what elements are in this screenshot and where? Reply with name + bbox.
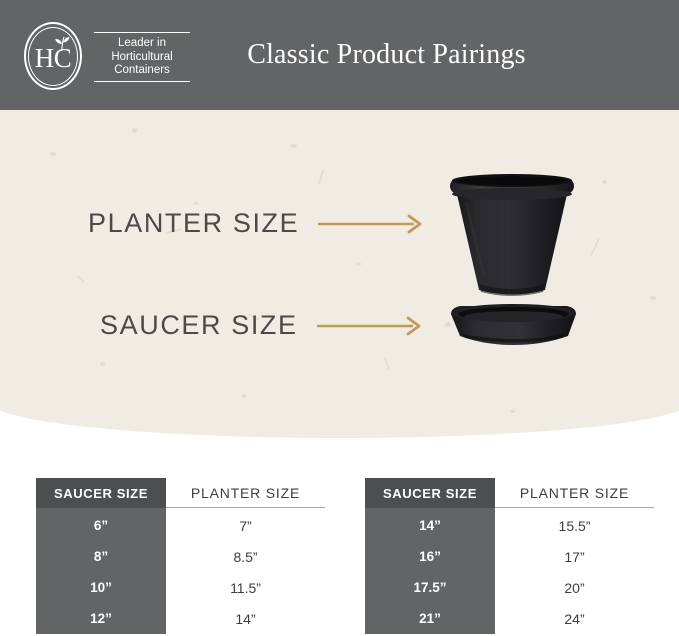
planter-column-header: PLANTER SIZE bbox=[166, 478, 325, 508]
table-cell-planter: 15.5” bbox=[495, 510, 654, 541]
right-arrow-icon bbox=[316, 315, 426, 337]
saucer-column-body: 6” 8” 10” 12” bbox=[36, 508, 166, 634]
table-cell-saucer: 8” bbox=[36, 541, 166, 572]
table-cell-planter: 7” bbox=[166, 510, 325, 541]
planter-size-callout: PLANTER SIZE bbox=[88, 208, 427, 239]
table-cell-saucer: 17.5” bbox=[365, 572, 495, 603]
saucer-column-header: SAUCER SIZE bbox=[365, 478, 495, 508]
size-chart-tables: SAUCER SIZE 6” 8” 10” 12” PLANTER SIZE 7… bbox=[0, 478, 679, 636]
table-cell-saucer: 16” bbox=[365, 541, 495, 572]
planter-column-right: PLANTER SIZE 15.5” 17” 20” 24” bbox=[495, 478, 654, 636]
table-cell-saucer: 10” bbox=[36, 572, 166, 603]
saucer-column-left: SAUCER SIZE 6” 8” 10” 12” bbox=[36, 478, 166, 636]
planter-pot-image bbox=[446, 172, 578, 296]
saucer-column-header: SAUCER SIZE bbox=[36, 478, 166, 508]
size-table-right: SAUCER SIZE 14” 16” 17.5” 21” PLANTER SI… bbox=[365, 478, 654, 636]
table-cell-planter: 14” bbox=[166, 603, 325, 634]
planter-column-header: PLANTER SIZE bbox=[495, 478, 654, 508]
table-cell-saucer: 12” bbox=[36, 603, 166, 634]
table-cell-saucer: 14” bbox=[365, 510, 495, 541]
planter-size-label: PLANTER SIZE bbox=[88, 208, 299, 239]
saucer-size-callout: SAUCER SIZE bbox=[100, 310, 426, 341]
planter-column-body: 15.5” 17” 20” 24” bbox=[495, 508, 654, 634]
page-title: Classic Product Pairings bbox=[0, 0, 679, 110]
table-cell-planter: 20” bbox=[495, 572, 654, 603]
product-pairing-infographic: HC Leader in Horticultural Containers Cl… bbox=[0, 0, 679, 636]
right-arrow-icon bbox=[317, 213, 427, 235]
saucer-dish-image bbox=[448, 300, 579, 350]
saucer-size-label: SAUCER SIZE bbox=[100, 310, 298, 341]
saucer-column-body: 14” 16” 17.5” 21” bbox=[365, 508, 495, 634]
table-cell-planter: 11.5” bbox=[166, 572, 325, 603]
table-cell-planter: 8.5” bbox=[166, 541, 325, 572]
table-cell-saucer: 6” bbox=[36, 510, 166, 541]
saucer-column-right: SAUCER SIZE 14” 16” 17.5” 21” bbox=[365, 478, 495, 636]
table-cell-saucer: 21” bbox=[365, 603, 495, 634]
planter-column-left: PLANTER SIZE 7” 8.5” 11.5” 14” bbox=[166, 478, 325, 636]
table-cell-planter: 17” bbox=[495, 541, 654, 572]
table-cell-planter: 24” bbox=[495, 603, 654, 634]
size-table-left: SAUCER SIZE 6” 8” 10” 12” PLANTER SIZE 7… bbox=[36, 478, 325, 636]
header-bar: HC Leader in Horticultural Containers Cl… bbox=[0, 0, 679, 110]
planter-column-body: 7” 8.5” 11.5” 14” bbox=[166, 508, 325, 634]
